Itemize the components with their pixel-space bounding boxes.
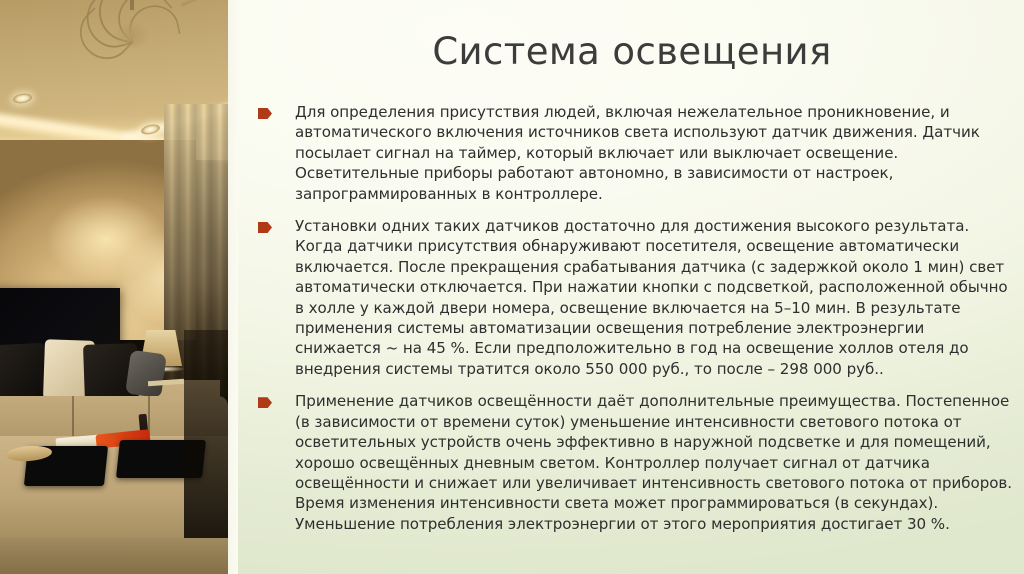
cushion-dark: [0, 343, 47, 404]
bullet-item-light-level-sensor: Применение датчиков освещённости даёт до…: [258, 391, 1014, 534]
bullet-item-presence-sensor-savings: Установки одних таких датчиков достаточн…: [258, 216, 1014, 379]
slide-title: Система освещения: [252, 32, 1012, 73]
cushion-grey: [125, 350, 167, 399]
presentation-slide: Система освещения Для определения присут…: [0, 0, 1024, 574]
photo-gutter: [228, 0, 238, 574]
chandelier-body: [114, 20, 150, 50]
slide-body: Для определения присутствия людей, включ…: [258, 102, 1014, 534]
interior-room-lighting-photo: [0, 0, 228, 574]
bullet-arrow-icon: [258, 397, 272, 408]
chandelier-icon: [56, 0, 208, 68]
bullet-item-motion-sensor: Для определения присутствия людей, включ…: [258, 102, 1014, 204]
photo-inner: [0, 0, 228, 574]
bullet-text: Применение датчиков освещённости даёт до…: [295, 391, 1014, 534]
chandelier-shade: [176, 0, 202, 7]
bullet-arrow-icon: [258, 222, 272, 233]
bullet-arrow-icon: [258, 108, 272, 119]
bullet-text: Установки одних таких датчиков достаточн…: [295, 216, 1014, 379]
carpet: [0, 538, 228, 574]
bullet-text: Для определения присутствия людей, включ…: [295, 102, 1014, 204]
